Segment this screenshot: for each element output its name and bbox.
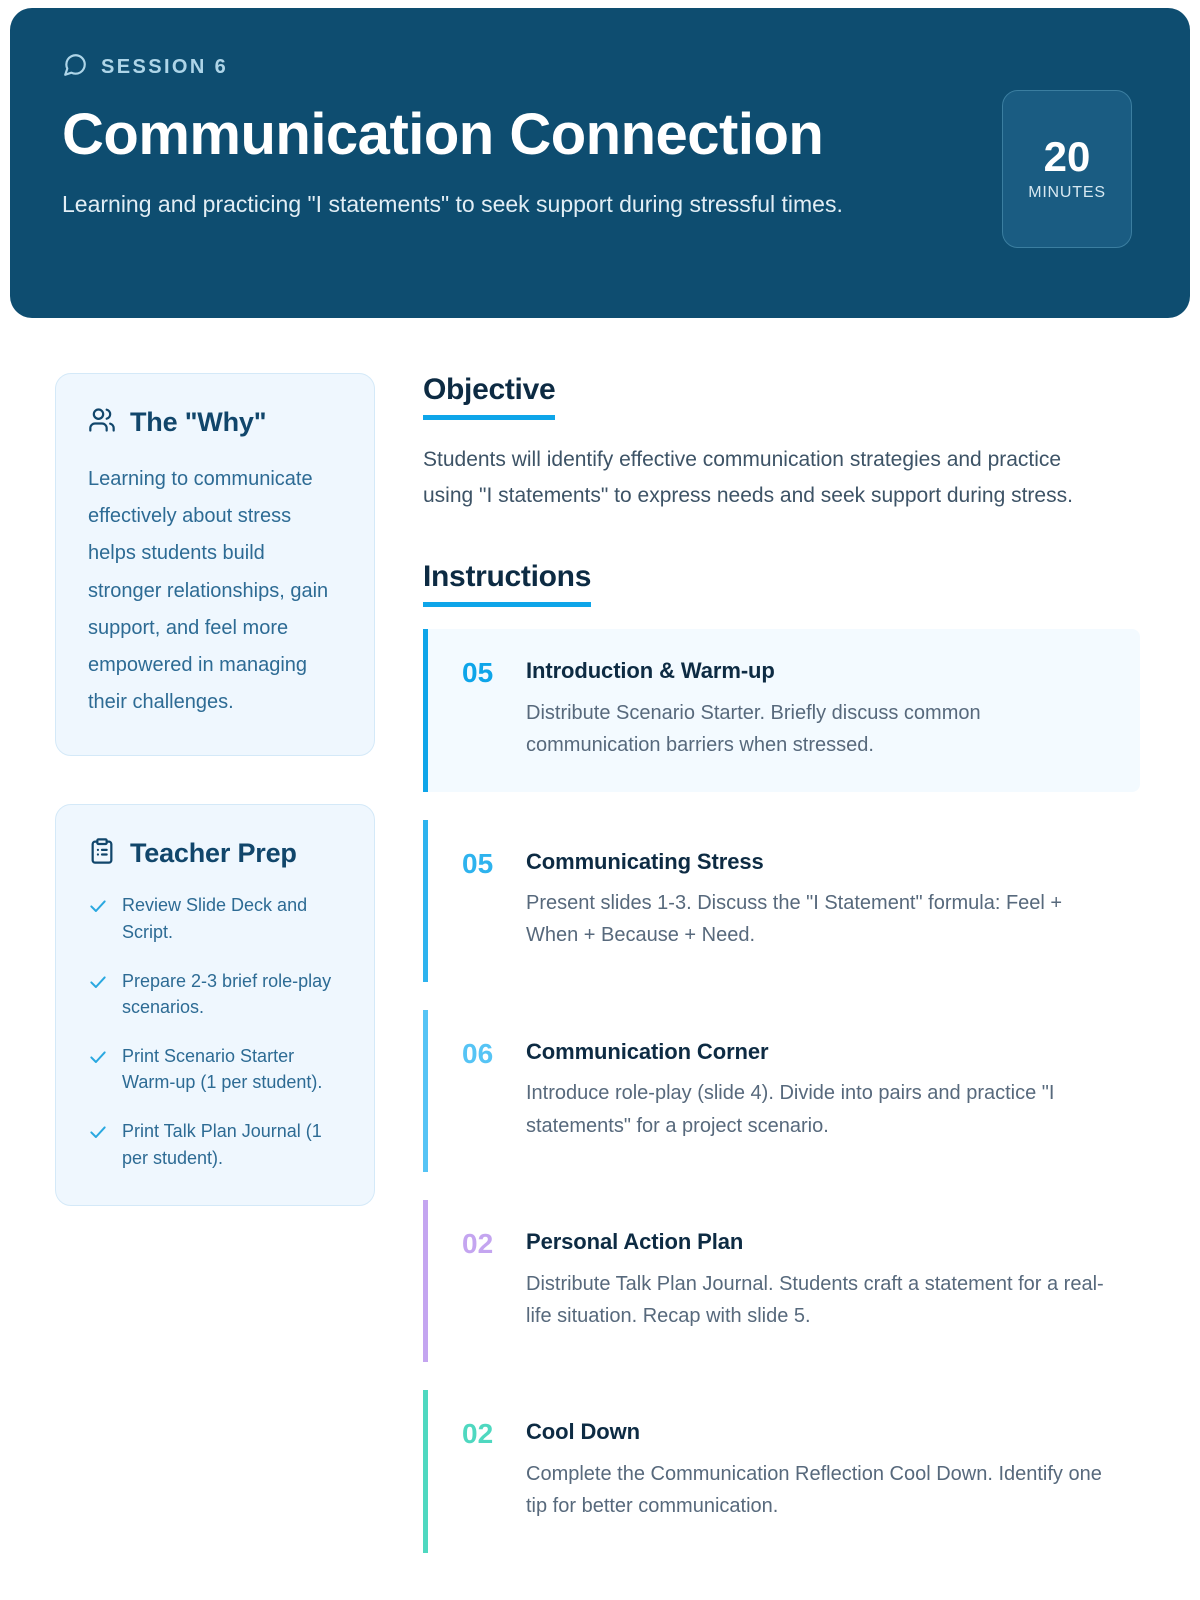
teacher-prep-list: Review Slide Deck and Script. Prepare 2-… bbox=[88, 892, 342, 1171]
step-description: Complete the Communication Reflection Co… bbox=[526, 1458, 1114, 1523]
objective-section: Objective Students will identify effecti… bbox=[423, 373, 1140, 514]
teacher-prep-card-title: Teacher Prep bbox=[130, 838, 297, 869]
step-description: Distribute Scenario Starter. Briefly dis… bbox=[526, 697, 1114, 762]
duration-value: 20 bbox=[1044, 136, 1091, 178]
main-column: Objective Students will identify effecti… bbox=[423, 373, 1140, 1553]
instruction-step: 05 Introduction & Warm-up Distribute Sce… bbox=[423, 629, 1140, 791]
step-title: Communication Corner bbox=[526, 1038, 1114, 1066]
instruction-step: 02 Personal Action Plan Distribute Talk … bbox=[423, 1200, 1140, 1362]
session-label: SESSION 6 bbox=[101, 56, 228, 79]
list-item: Print Talk Plan Journal (1 per student). bbox=[88, 1118, 342, 1171]
step-content: Cool Down Complete the Communication Ref… bbox=[526, 1418, 1114, 1522]
instructions-heading: Instructions bbox=[423, 560, 591, 607]
step-description: Distribute Talk Plan Journal. Students c… bbox=[526, 1268, 1114, 1333]
page-title: Communication Connection bbox=[62, 103, 962, 168]
lesson-header: SESSION 6 Communication Connection Learn… bbox=[10, 8, 1190, 318]
step-content: Communication Corner Introduce role-play… bbox=[526, 1038, 1114, 1142]
clipboard-list-icon bbox=[88, 837, 116, 870]
check-icon bbox=[88, 1047, 108, 1072]
why-card-body: Learning to communicate effectively abou… bbox=[88, 461, 342, 721]
step-content: Personal Action Plan Distribute Talk Pla… bbox=[526, 1228, 1114, 1332]
check-icon bbox=[88, 1122, 108, 1147]
sidebar: The "Why" Learning to communicate effect… bbox=[55, 373, 375, 1254]
step-number: 06 bbox=[428, 1038, 526, 1142]
objective-heading: Objective bbox=[423, 373, 555, 420]
users-icon bbox=[88, 406, 116, 439]
check-icon bbox=[88, 972, 108, 997]
step-title: Cool Down bbox=[526, 1418, 1114, 1446]
instruction-step: 02 Cool Down Complete the Communication … bbox=[423, 1390, 1140, 1552]
step-content: Communicating Stress Present slides 1-3.… bbox=[526, 848, 1114, 952]
message-square-icon bbox=[62, 52, 88, 83]
step-number: 05 bbox=[428, 848, 526, 952]
step-number: 05 bbox=[428, 657, 526, 761]
step-number: 02 bbox=[428, 1228, 526, 1332]
why-card: The "Why" Learning to communicate effect… bbox=[55, 373, 375, 756]
lesson-content: The "Why" Learning to communicate effect… bbox=[0, 318, 1200, 1553]
page-subtitle: Learning and practicing "I statements" t… bbox=[62, 186, 992, 223]
step-title: Introduction & Warm-up bbox=[526, 657, 1114, 685]
list-item: Prepare 2-3 brief role-play scenarios. bbox=[88, 968, 342, 1021]
instruction-step: 05 Communicating Stress Present slides 1… bbox=[423, 820, 1140, 982]
instruction-step: 06 Communication Corner Introduce role-p… bbox=[423, 1010, 1140, 1172]
why-card-title: The "Why" bbox=[130, 407, 266, 438]
list-item-label: Print Talk Plan Journal (1 per student). bbox=[122, 1118, 342, 1171]
list-item-label: Prepare 2-3 brief role-play scenarios. bbox=[122, 968, 342, 1021]
step-content: Introduction & Warm-up Distribute Scenar… bbox=[526, 657, 1114, 761]
instruction-steps: 05 Introduction & Warm-up Distribute Sce… bbox=[423, 629, 1140, 1552]
duration-badge: 20 MINUTES bbox=[1002, 90, 1132, 248]
check-icon bbox=[88, 896, 108, 921]
objective-body: Students will identify effective communi… bbox=[423, 442, 1103, 514]
teacher-prep-card: Teacher Prep Review Slide Deck and Scrip… bbox=[55, 804, 375, 1206]
instructions-section: Instructions 05 Introduction & Warm-up D… bbox=[423, 560, 1140, 1552]
session-badge: SESSION 6 bbox=[62, 52, 1138, 83]
lesson-plan-page: SESSION 6 Communication Connection Learn… bbox=[0, 0, 1200, 1553]
step-title: Communicating Stress bbox=[526, 848, 1114, 876]
step-description: Introduce role-play (slide 4). Divide in… bbox=[526, 1077, 1114, 1142]
step-description: Present slides 1-3. Discuss the "I State… bbox=[526, 887, 1114, 952]
teacher-prep-card-header: Teacher Prep bbox=[88, 837, 342, 870]
step-title: Personal Action Plan bbox=[526, 1228, 1114, 1256]
list-item: Review Slide Deck and Script. bbox=[88, 892, 342, 945]
duration-unit: MINUTES bbox=[1028, 184, 1106, 202]
list-item-label: Print Scenario Starter Warm-up (1 per st… bbox=[122, 1043, 342, 1096]
step-number: 02 bbox=[428, 1418, 526, 1522]
why-card-header: The "Why" bbox=[88, 406, 342, 439]
list-item-label: Review Slide Deck and Script. bbox=[122, 892, 342, 945]
list-item: Print Scenario Starter Warm-up (1 per st… bbox=[88, 1043, 342, 1096]
